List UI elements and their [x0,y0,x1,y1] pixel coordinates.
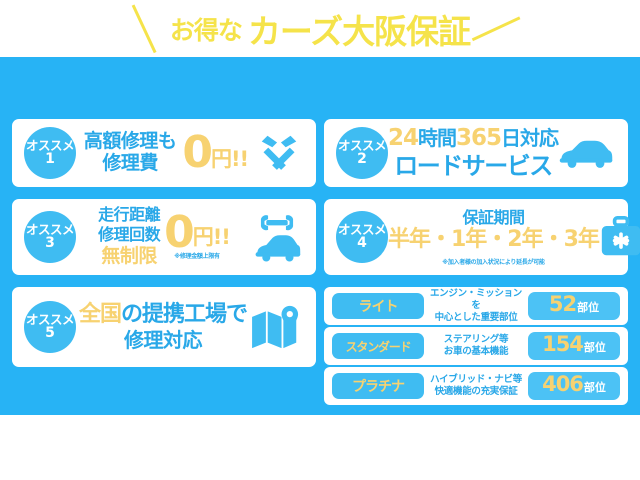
plan-description: ステアリング等 お車の基本機能 [424,334,528,358]
feature-card-5-body: 全国の提携工場で 修理対応 [76,287,250,367]
plan-name-pill[interactable]: スタンダード [332,333,424,359]
map-pin-icon [250,304,302,350]
recommend-badge-2: オススメ 2 [336,127,388,179]
medical-briefcase-icon [599,216,640,258]
plan-row-light[interactable]: ライト エンジン・ミッションを 中心とした重要部位 52 部位 [324,287,628,325]
plan-description-line1: エンジン・ミッションを [428,288,524,312]
badge-number: 4 [357,236,367,251]
card-2-days-number: 365 [456,125,501,151]
card-3-line3: 無制限 [101,245,157,269]
card-1-line1: 高額修理も [84,131,177,153]
card-2-days-word: 日対応 [501,126,558,150]
card-3-amount-block: 0 円!! ※修理金額上限有 [164,214,230,260]
plan-name-pill[interactable]: プラチナ [332,373,424,399]
slash-right-icon: ／ [470,5,521,56]
card-3-text: 走行距離 修理回数 無制限 [98,205,160,269]
badge-number: 2 [357,152,367,167]
feature-card-3: オススメ 3 走行距離 修理回数 無制限 0 円!! ※修理金額上限有 [12,199,316,275]
card-3-amount-unit: 円!! [193,221,230,251]
card-5-text: 全国の提携工場で 修理対応 [79,301,247,354]
card-2-hours-number: 24 [388,125,418,151]
plan-count-number: 52 [549,292,576,316]
card-1-line2: 修理費 [102,153,158,175]
card-3-line1: 走行距離 [98,205,160,225]
card-3-note: ※修理金額上限有 [174,251,219,260]
feature-card-2: オススメ 2 24時間365日対応 ロードサービス [324,119,628,187]
feature-card-1: オススメ 1 高額修理も 修理費 0 円!! [12,119,316,187]
plan-count-unit: 部位 [584,339,606,355]
plan-count-unit: 部位 [577,299,599,315]
card-5-line1-rest: の提携工場で [121,302,247,327]
feature-card-3-body: 走行距離 修理回数 無制限 0 円!! ※修理金額上限有 [76,199,252,275]
recommend-badge-1: オススメ 1 [24,127,76,179]
plan-count-number: 154 [542,332,583,356]
plan-count-badge: 154 部位 [528,332,620,360]
plan-description: ハイブリッド・ナビ等 快適機能の充実保証 [424,374,528,398]
plan-row-standard[interactable]: スタンダード ステアリング等 お車の基本機能 154 部位 [324,327,628,365]
plan-description-line2: お車の基本機能 [428,346,524,358]
plan-row-platinum[interactable]: プラチナ ハイブリッド・ナビ等 快適機能の充実保証 406 部位 [324,367,628,405]
recommend-badge-5: オススメ 5 [24,301,76,353]
plan-description: エンジン・ミッションを 中心とした重要部位 [424,288,528,324]
card-4-line1: 保証期間 [462,208,524,227]
card-3-line2: 修理回数 [98,225,160,245]
card-2-line2: ロードサービス [394,152,552,181]
plan-count-badge: 406 部位 [528,372,620,400]
card-2-text: 24時間365日対応 ロードサービス [388,125,558,181]
feature-card-4: オススメ 4 保証期間 半年・1年・2年・3年 ※加入者様の加入状況により延長が… [324,199,628,275]
feature-card-2-body: 24時間365日対応 ロードサービス [388,119,558,187]
headline: ＼ お得な カーズ大阪保証 ／ [0,3,640,55]
recommend-badge-3: オススメ 3 [24,211,76,263]
advertisement-canvas: ＼ お得な カーズ大阪保証 ／ オススメ 1 高額修理も 修理費 0 円!! [0,0,640,480]
card-4-line2: 半年・1年・2年・3年 [388,227,599,253]
card-5-line1: 全国の提携工場で [79,301,247,329]
badge-number: 3 [45,236,55,251]
headline-small-text: お得な [170,11,242,47]
card-1-amount-unit: 円!! [211,143,248,173]
feature-card-5: オススメ 5 全国の提携工場で 修理対応 [12,287,316,367]
card-2-line1: 24時間365日対応 [388,125,558,153]
plan-description-line1: ハイブリッド・ナビ等 [428,374,524,386]
feature-card-4-body: 保証期間 半年・1年・2年・3年 ※加入者様の加入状況により延長が可能 [388,199,599,275]
plan-count-badge: 52 部位 [528,292,620,320]
car-wrench-icon [252,210,302,264]
recommend-badge-4: オススメ 4 [336,211,388,263]
card-2-hours-word: 時間 [418,126,456,150]
plan-count-unit: 部位 [584,379,606,395]
card-1-text: 高額修理も 修理費 [84,131,177,175]
card-5-highlight: 全国 [79,302,121,327]
car-icon [558,136,614,170]
slash-left-icon: ＼ [117,5,168,56]
card-1-amount-number: 0 [182,133,211,173]
plan-description-line2: 中心とした重要部位 [428,312,524,324]
plan-description-line2: 快適機能の充実保証 [428,386,524,398]
feature-card-1-body: 高額修理も 修理費 0 円!! [76,119,256,187]
card-5-line2: 修理対応 [124,328,202,353]
card-3-amount: 0 円!! [164,214,230,251]
card-4-note: ※加入者様の加入状況により延長が可能 [442,257,544,266]
badge-number: 1 [45,152,55,167]
badge-number: 5 [45,326,55,341]
plan-description-line1: ステアリング等 [428,334,524,346]
plan-name-pill[interactable]: ライト [332,293,424,319]
card-1-amount: 0 円!! [182,133,248,173]
plan-count-number: 406 [542,372,583,396]
card-3-amount-number: 0 [164,214,193,251]
card-4-text: 保証期間 半年・1年・2年・3年 ※加入者様の加入状況により延長が可能 [388,208,599,266]
hammer-chisel-icon [256,130,302,176]
headline-main-text: カーズ大阪保証 [248,5,470,53]
